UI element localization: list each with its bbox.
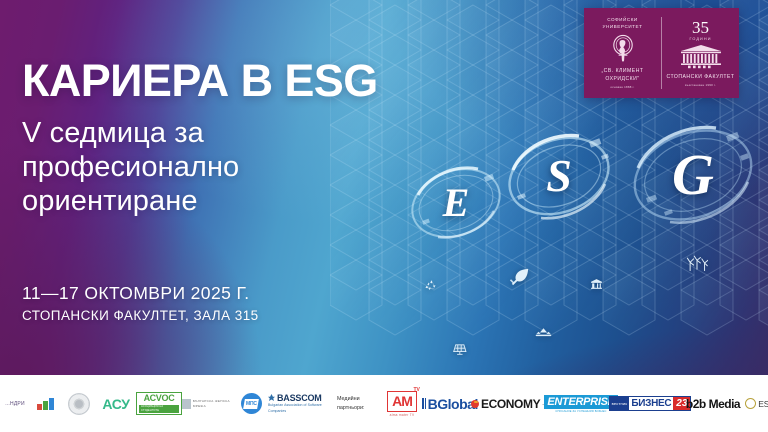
- esg-letter-s: S: [505, 122, 613, 230]
- esgnews-mark-icon: [745, 398, 756, 409]
- bank-icon: [590, 278, 603, 291]
- headline-block: КАРИЕРА В ESG V седмица за професионално…: [22, 58, 452, 219]
- university-logo-left: СОФИЙСКИ УНИВЕРСИТЕТ „СВ. КЛИМЕНТ ОХРИДС…: [584, 8, 661, 98]
- event-date: 11—17 ОКТОМВРИ 2025 Г.: [22, 283, 259, 304]
- asu-logo: АСУ: [96, 396, 136, 412]
- esg-letter-g: G: [630, 112, 756, 238]
- biznes-23-logo: вестник БИЗНЕС 23: [616, 396, 684, 411]
- solar-panel-icon: [452, 340, 469, 355]
- university-patron: „СВ. КЛИМЕНТ ОХРИДСКИ": [587, 68, 658, 83]
- basscom-mark-icon: [268, 394, 275, 401]
- esgnews-logo: ESGnews: [742, 398, 768, 409]
- faculty-name: СТОПАНСКИ ФАКУЛТЕТ: [666, 74, 734, 81]
- date-venue-block: 11—17 ОКТОМВРИ 2025 Г. СТОПАНСКИ ФАКУЛТЕ…: [22, 283, 259, 323]
- acvoc-logo: АСVОС АСОЦИАЦИЯ НА СТУДЕНТИТЕ: [136, 392, 182, 415]
- pyramid-partner-logo: [28, 398, 62, 410]
- banner-subtitle: V седмица за професионално ориентиране: [22, 117, 322, 219]
- university-founded: основан 1888 г.: [610, 85, 634, 89]
- esg-ring-g: G: [630, 112, 756, 238]
- esg-ring-s: S: [505, 122, 613, 230]
- b2b-media-logo: b2b Media: [684, 397, 742, 411]
- economy-bg-logo: ECONOMY .bg: [476, 397, 546, 411]
- media-partners-label: Медийни партньори:: [334, 395, 380, 412]
- bwn-logo: БЪЛГАРСКА ЖЕНСКА МРЕЖА: [182, 399, 234, 409]
- mps-logo: МПС: [234, 393, 268, 414]
- circular-partner-logo: [62, 393, 96, 415]
- basscom-logo: BASSCOM Bulgarian Association of Softwar…: [268, 393, 334, 414]
- bglobal-logo: BGlobal: [424, 396, 476, 412]
- university-seal-icon: [610, 34, 636, 64]
- event-venue: СТОПАНСКИ ФАКУЛТЕТ, ЗАЛА 315: [22, 308, 259, 323]
- anniversary-word: ГОДИНИ: [689, 37, 711, 41]
- water-waves-icon: [535, 327, 552, 338]
- sofia-university-logo: СОФИЙСКИ УНИВЕРСИТЕТ „СВ. КЛИМЕНТ ОХРИДС…: [584, 8, 739, 98]
- enterprise-logo: ENTERPRISE СПИСАНИЕ ЗА УСПЕШНИЯ БИЗНЕС: [546, 395, 616, 413]
- faculty-founded: възстановен 1990 г.: [685, 83, 716, 87]
- university-name: СОФИЙСКИ УНИВЕРСИТЕТ: [587, 17, 658, 31]
- university-logo-right: 35 ГОДИНИ: [662, 8, 739, 98]
- anniversary-number: 35: [692, 19, 709, 36]
- wind-turbine-icon: [686, 254, 708, 272]
- partners-bar: ...НДРИ АСУ АСVОС АСОЦИАЦИЯ НА СТУДЕНТИТ…: [0, 375, 768, 432]
- economy-mark-icon: [471, 400, 479, 408]
- partner-logo-cut: ...НДРИ: [0, 401, 28, 407]
- banner-title: КАРИЕРА В ESG: [22, 58, 452, 103]
- leaf-icon: [508, 266, 531, 289]
- faculty-building-icon: [678, 44, 724, 70]
- recycle-icon: [424, 278, 439, 293]
- am-tv-logo: TV AM alma mater TV: [380, 391, 424, 417]
- esg-career-week-banner: E S: [0, 0, 768, 432]
